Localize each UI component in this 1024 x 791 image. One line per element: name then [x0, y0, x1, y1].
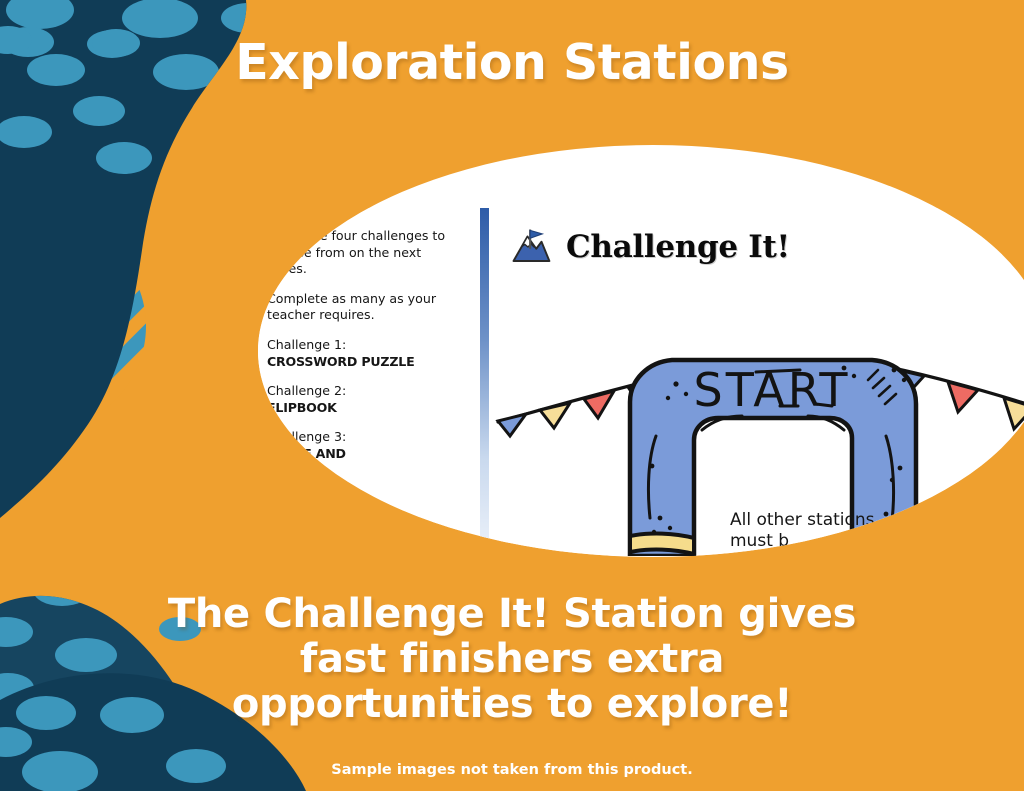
slide-heading-row: Challenge It!: [510, 226, 790, 268]
arch-caption-line-2: must b: [730, 531, 789, 551]
slide-pair: There are four challenges to choose from…: [258, 208, 1024, 557]
disclaimer-note: Sample images not taken from this produc…: [0, 762, 1024, 778]
arch-caption-line-1: All other stations: [730, 510, 875, 530]
challenge-3-label: Challenge 3:: [267, 429, 346, 444]
arch-caption: All other stations must b: [730, 510, 875, 553]
page-title: Exploration Stations: [0, 34, 1024, 91]
challenge-2: Challenge 2: FLIPBOOK: [267, 383, 463, 416]
headline-line-2: fast finishers extra: [60, 637, 964, 682]
start-arch-label: START: [694, 363, 851, 417]
slide-preview-ellipse: There are four challenges to choose from…: [258, 145, 1024, 557]
challenge-1-label: Challenge 1:: [267, 337, 346, 352]
slide-heading-title: Challenge It!: [566, 229, 790, 265]
intro-paragraph-2: Complete as many as your teacher require…: [267, 291, 463, 324]
headline-line-1: The Challenge It! Station gives: [60, 592, 964, 637]
slide-left-panel: There are four challenges to choose from…: [258, 208, 466, 556]
slide-right-panel: Challenge It!: [480, 208, 1024, 556]
slide-left-text: There are four challenges to choose from…: [267, 228, 463, 476]
arch-base-band: [630, 534, 694, 554]
challenge-1-name: CROSSWORD PUZZLE: [267, 354, 415, 369]
challenge-2-label: Challenge 2:: [267, 383, 346, 398]
headline-text: The Challenge It! Station gives fast fin…: [60, 592, 964, 726]
start-arch-illustration: START All other stations must b: [480, 318, 1024, 556]
poster-canvas: Exploration Stations There are four chal…: [0, 0, 1024, 791]
challenge-2-name: FLIPBOOK: [267, 400, 337, 415]
challenge-1: Challenge 1: CROSSWORD PUZZLE: [267, 337, 463, 370]
intro-paragraph-1: There are four challenges to choose from…: [267, 228, 463, 278]
challenge-3-name: WRITE AND: [267, 446, 346, 461]
challenge-3: Challenge 3: WRITE AND: [267, 429, 463, 462]
mountain-flag-icon: [510, 226, 552, 268]
ellipse-mask: There are four challenges to choose from…: [258, 145, 1024, 557]
headline-line-3: opportunities to explore!: [60, 682, 964, 727]
